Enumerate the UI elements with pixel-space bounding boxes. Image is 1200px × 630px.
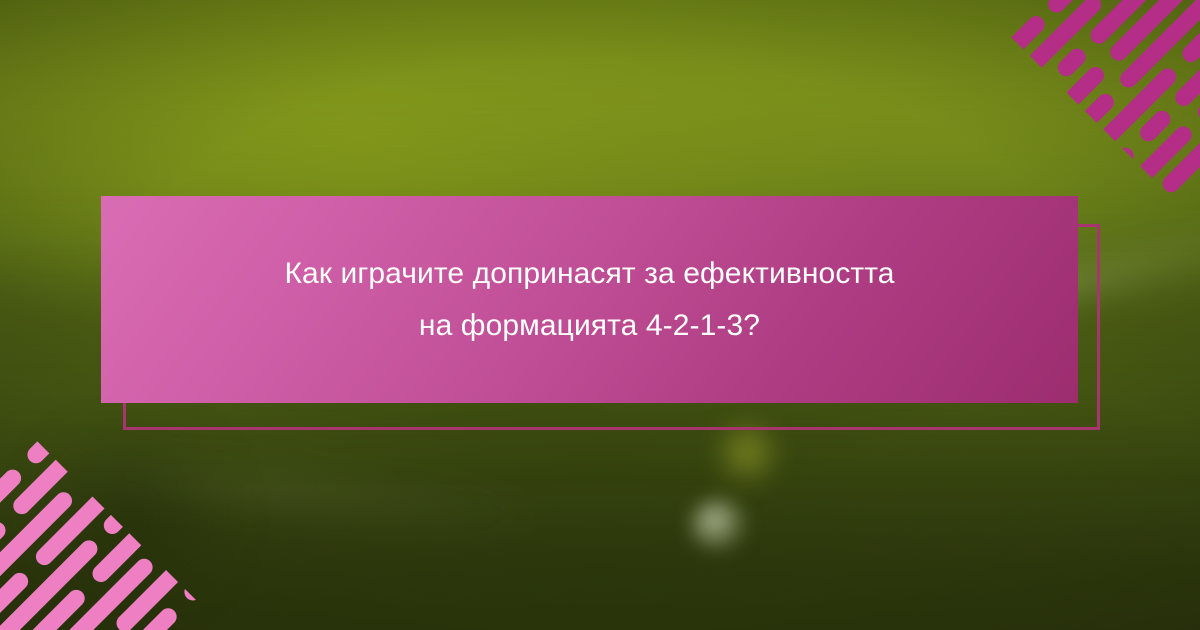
title-line-2: на формацията 4-2-1-3? <box>284 300 894 352</box>
title-card: Как играчите допринасят за ефективността… <box>101 196 1078 403</box>
title-line-1: Как играчите допринасят за ефективността <box>284 248 894 300</box>
poster-canvas: Как играчите допринасят за ефективността… <box>0 0 1200 630</box>
page-title: Как играчите допринасят за ефективността… <box>284 248 894 352</box>
